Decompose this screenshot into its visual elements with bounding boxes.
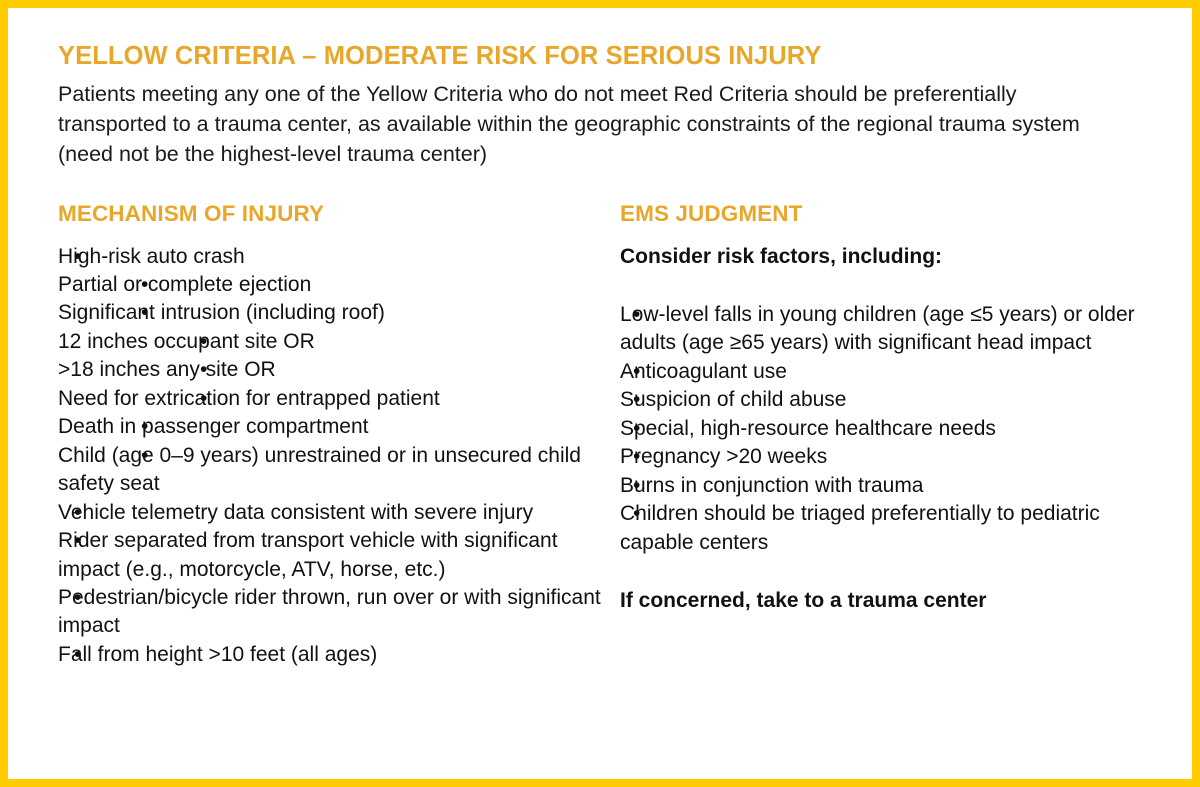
ems-judgment-list: •Low-level falls in young children (age … — [620, 301, 1140, 557]
list-item: •Vehicle telemetry data consistent with … — [58, 499, 618, 527]
list-item-label: Rider separated from transport vehicle w… — [58, 529, 558, 580]
list-item: •Significant intrusion (including roof) — [58, 299, 618, 327]
bullet-icon: • — [141, 299, 148, 327]
ems-judgment-heading: EMS JUDGMENT — [620, 202, 1140, 227]
list-item: •Child (age 0–9 years) unrestrained or i… — [58, 442, 618, 499]
list-item: •Suspicion of child abuse — [620, 386, 1140, 414]
bullet-icon: • — [633, 358, 640, 386]
list-item: •Pedestrian/bicycle rider thrown, run ov… — [58, 584, 618, 641]
list-item-label: Death in passenger compartment — [58, 415, 369, 438]
bullet-icon: • — [200, 356, 207, 384]
list-item: •Low-level falls in young children (age … — [620, 301, 1140, 358]
bullet-icon: • — [633, 472, 640, 500]
bullet-icon: • — [74, 527, 81, 555]
list-item-label: Anticoagulant use — [620, 360, 787, 383]
list-item: •>18 inches any site OR — [58, 356, 618, 384]
mechanism-of-injury-heading: MECHANISM OF INJURY — [58, 202, 618, 227]
list-item-label: Pedestrian/bicycle rider thrown, run ove… — [58, 586, 601, 637]
bullet-icon: • — [633, 500, 640, 528]
bullet-icon: • — [74, 499, 81, 527]
bullet-icon: • — [633, 415, 640, 443]
intro-paragraph: Patients meeting any one of the Yellow C… — [58, 79, 1108, 169]
ems-judgment-column: EMS JUDGMENT Consider risk factors, incl… — [620, 202, 1140, 616]
page-title: YELLOW CRITERIA – MODERATE RISK FOR SERI… — [58, 42, 1148, 71]
list-item-label: Low-level falls in young children (age ≤… — [620, 303, 1135, 354]
list-item: •Rider separated from transport vehicle … — [58, 527, 618, 584]
list-item-label: Vehicle telemetry data consistent with s… — [58, 501, 533, 524]
list-item-label: Fall from height >10 feet (all ages) — [58, 643, 377, 666]
bullet-icon: • — [200, 385, 207, 413]
list-item: •Partial or complete ejection — [58, 271, 618, 299]
list-item: •Children should be triaged preferential… — [620, 500, 1140, 557]
list-item: •Burns in conjunction with trauma — [620, 472, 1140, 500]
list-item-label: 12 inches occupant site OR — [58, 330, 315, 353]
list-item-label: Pregnancy >20 weeks — [620, 445, 827, 468]
bullet-icon: • — [633, 301, 640, 329]
list-item: •Pregnancy >20 weeks — [620, 443, 1140, 471]
bullet-icon: • — [633, 386, 640, 414]
ems-judgment-lead-in: Consider risk factors, including: — [620, 243, 1140, 271]
list-item: •Death in passenger compartment — [58, 413, 618, 441]
list-item: •Need for extrication for entrapped pati… — [58, 385, 618, 413]
list-item: •Anticoagulant use — [620, 358, 1140, 386]
list-item-label: Children should be triaged preferentiall… — [620, 502, 1100, 553]
list-item-label: High-risk auto crash — [58, 245, 245, 268]
list-item-label: Burns in conjunction with trauma — [620, 474, 924, 497]
bullet-icon: • — [74, 641, 81, 669]
list-item: •12 inches occupant site OR — [58, 328, 618, 356]
bullet-icon: • — [141, 442, 148, 470]
bullet-icon: • — [74, 584, 81, 612]
list-item-label: Significant intrusion (including roof) — [58, 301, 385, 324]
list-item: •Fall from height >10 feet (all ages) — [58, 641, 618, 669]
criteria-columns: MECHANISM OF INJURY •High-risk auto cras… — [58, 202, 1148, 670]
bullet-icon: • — [74, 243, 81, 271]
list-item-label: Child (age 0–9 years) unrestrained or in… — [58, 444, 581, 495]
list-item: •High-risk auto crash — [58, 243, 618, 271]
list-item-label: Partial or complete ejection — [58, 273, 311, 296]
yellow-criteria-card: YELLOW CRITERIA – MODERATE RISK FOR SERI… — [0, 0, 1200, 787]
card-content: YELLOW CRITERIA – MODERATE RISK FOR SERI… — [58, 42, 1148, 669]
list-item-label: Suspicion of child abuse — [620, 388, 846, 411]
list-item-label: >18 inches any site OR — [58, 358, 276, 381]
bullet-icon: • — [633, 443, 640, 471]
list-item-label: Special, high-resource healthcare needs — [620, 417, 996, 440]
mechanism-of-injury-list: •High-risk auto crash•Partial or complet… — [58, 243, 618, 670]
bullet-icon: • — [200, 328, 207, 356]
bullet-icon: • — [141, 413, 148, 441]
mechanism-of-injury-column: MECHANISM OF INJURY •High-risk auto cras… — [58, 202, 618, 670]
list-item: •Special, high-resource healthcare needs — [620, 415, 1140, 443]
bullet-icon: • — [141, 271, 148, 299]
ems-judgment-closing: If concerned, take to a trauma center — [620, 587, 1140, 615]
list-item-label: Need for extrication for entrapped patie… — [58, 387, 440, 410]
